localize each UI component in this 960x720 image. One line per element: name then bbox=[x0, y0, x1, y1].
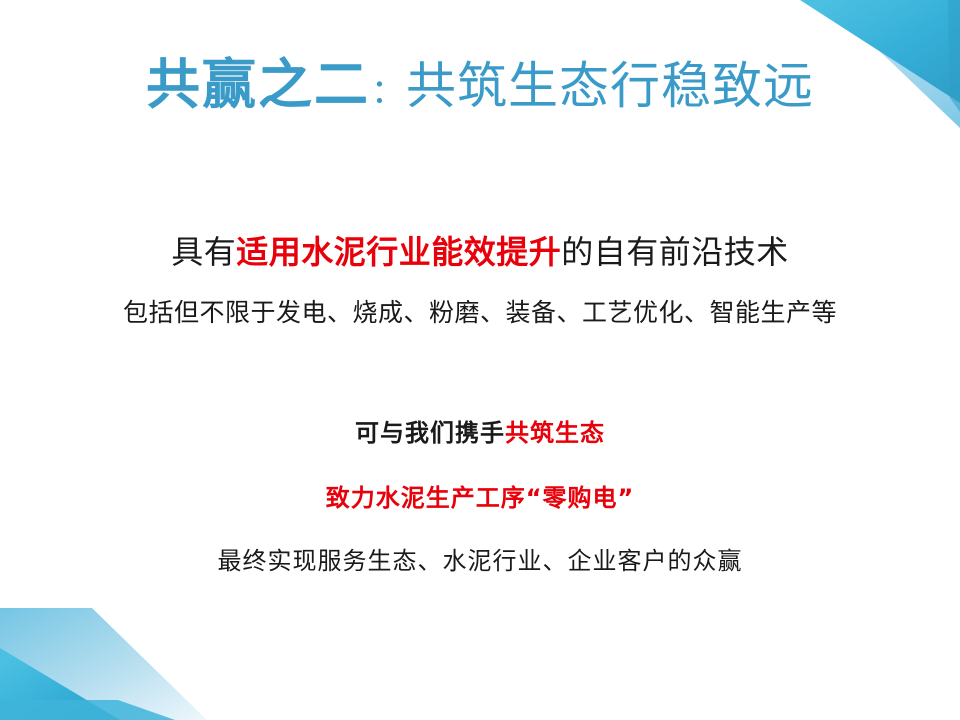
technology-headline: 具有适用水泥行业能效提升的自有前沿技术 bbox=[0, 232, 960, 274]
bottom-left-lower-strip bbox=[0, 700, 175, 720]
title-separator: ： bbox=[370, 72, 406, 112]
bottom-left-teal-wedge bbox=[0, 648, 120, 720]
cooperation-text-block: 可与我们携手共筑生态 致力水泥生产工序“零购电” 最终实现服务生态、水泥行业、企… bbox=[0, 418, 960, 578]
technology-text-block: 具有适用水泥行业能效提升的自有前沿技术 包括但不限于发电、烧成、粉磨、装备、工艺… bbox=[0, 232, 960, 329]
title-main-text: 共赢之二 bbox=[146, 53, 370, 116]
technology-headline-prefix: 具有 bbox=[171, 233, 236, 271]
cooperation-line-a: 可与我们携手共筑生态 bbox=[0, 418, 960, 449]
title-sub-text: 共筑生态行稳致远 bbox=[406, 57, 814, 115]
page-title: 共赢之二：共筑生态行稳致远 bbox=[0, 58, 960, 112]
technology-headline-suffix: 的自有前沿技术 bbox=[561, 233, 789, 271]
cooperation-line-c: 最终实现服务生态、水泥行业、企业客户的众赢 bbox=[0, 546, 960, 577]
bottom-left-pale-band bbox=[0, 608, 207, 720]
cooperation-line-a-prefix: 可与我们携手 bbox=[355, 419, 505, 447]
cooperation-line-b: 致力水泥生产工序“零购电” bbox=[0, 483, 960, 514]
slide-canvas: 共赢之二：共筑生态行稳致远 具有适用水泥行业能效提升的自有前沿技术 包括但不限于… bbox=[0, 0, 960, 720]
cooperation-line-a-emphasis: 共筑生态 bbox=[505, 419, 605, 447]
technology-detail-line: 包括但不限于发电、烧成、粉磨、装备、工艺优化、智能生产等 bbox=[0, 297, 960, 330]
technology-headline-emphasis: 适用水泥行业能效提升 bbox=[236, 233, 561, 271]
